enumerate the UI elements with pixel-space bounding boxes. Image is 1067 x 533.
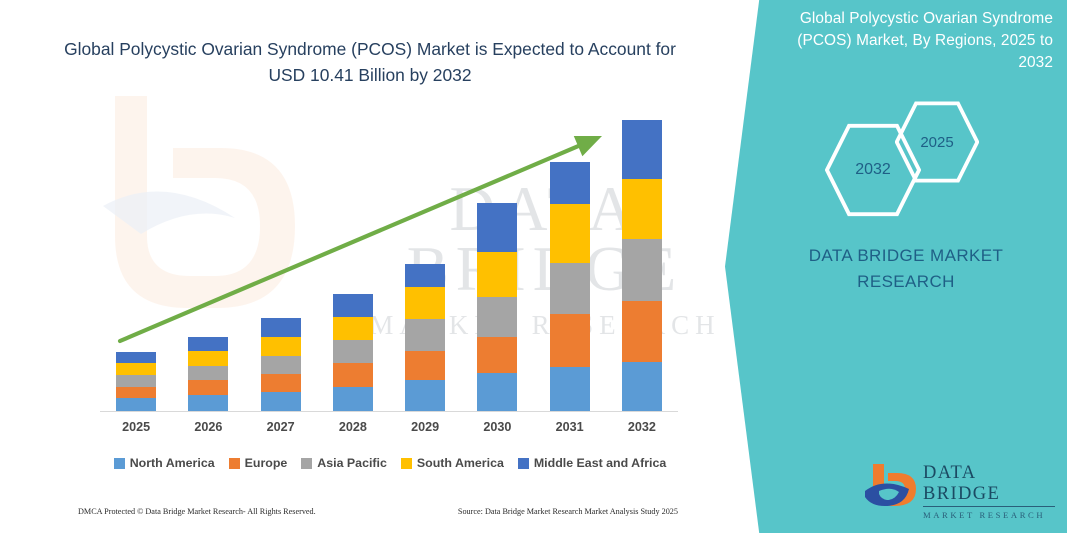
legend-swatch xyxy=(229,458,240,469)
footer-copyright: DMCA Protected © Data Bridge Market Rese… xyxy=(78,507,316,516)
legend-swatch xyxy=(518,458,529,469)
brand-name: DATA BRIDGE MARKET RESEARCH xyxy=(765,243,1047,294)
company-logo: DATA BRIDGE MARKET RESEARCH xyxy=(865,459,1055,511)
legend-item[interactable]: Europe xyxy=(229,456,288,470)
logo-line2: MARKET RESEARCH xyxy=(923,510,1055,520)
footer-source: Source: Data Bridge Market Research Mark… xyxy=(458,507,678,516)
hexagon-2032-label: 2032 xyxy=(855,161,891,179)
chart-legend: North AmericaEuropeAsia PacificSouth Ame… xyxy=(95,456,685,470)
logo-line1: DATA BRIDGE xyxy=(923,463,1055,507)
stacked-bar-chart: 20252026202720282029203020312032 xyxy=(0,0,760,533)
legend-item[interactable]: Asia Pacific xyxy=(301,456,387,470)
legend-swatch xyxy=(401,458,412,469)
infographic-slide: DATA BRIDGE MARKET RESEARCH Global Polyc… xyxy=(0,0,1067,533)
hexagon-2025-label: 2025 xyxy=(920,134,953,151)
chart-panel: DATA BRIDGE MARKET RESEARCH Global Polyc… xyxy=(0,0,760,533)
legend-label: South America xyxy=(417,456,504,470)
footer: DMCA Protected © Data Bridge Market Rese… xyxy=(78,507,678,516)
legend-item[interactable]: North America xyxy=(114,456,215,470)
legend-label: Europe xyxy=(245,456,288,470)
legend-item[interactable]: South America xyxy=(401,456,504,470)
legend-label: Asia Pacific xyxy=(317,456,387,470)
right-branding-panel: Global Polycystic Ovarian Syndrome (PCOS… xyxy=(725,0,1067,533)
legend-swatch xyxy=(114,458,125,469)
legend-item[interactable]: Middle East and Africa xyxy=(518,456,666,470)
growth-trend-arrow-icon xyxy=(0,0,760,533)
legend-label: North America xyxy=(130,456,215,470)
hexagon-2025: 2025 xyxy=(895,100,979,184)
legend-label: Middle East and Africa xyxy=(534,456,666,470)
data-bridge-logo-icon xyxy=(865,461,919,509)
hexagon-group: 2032 2025 xyxy=(725,100,1067,220)
right-panel-title: Global Polycystic Ovarian Syndrome (PCOS… xyxy=(761,8,1053,74)
legend-swatch xyxy=(301,458,312,469)
